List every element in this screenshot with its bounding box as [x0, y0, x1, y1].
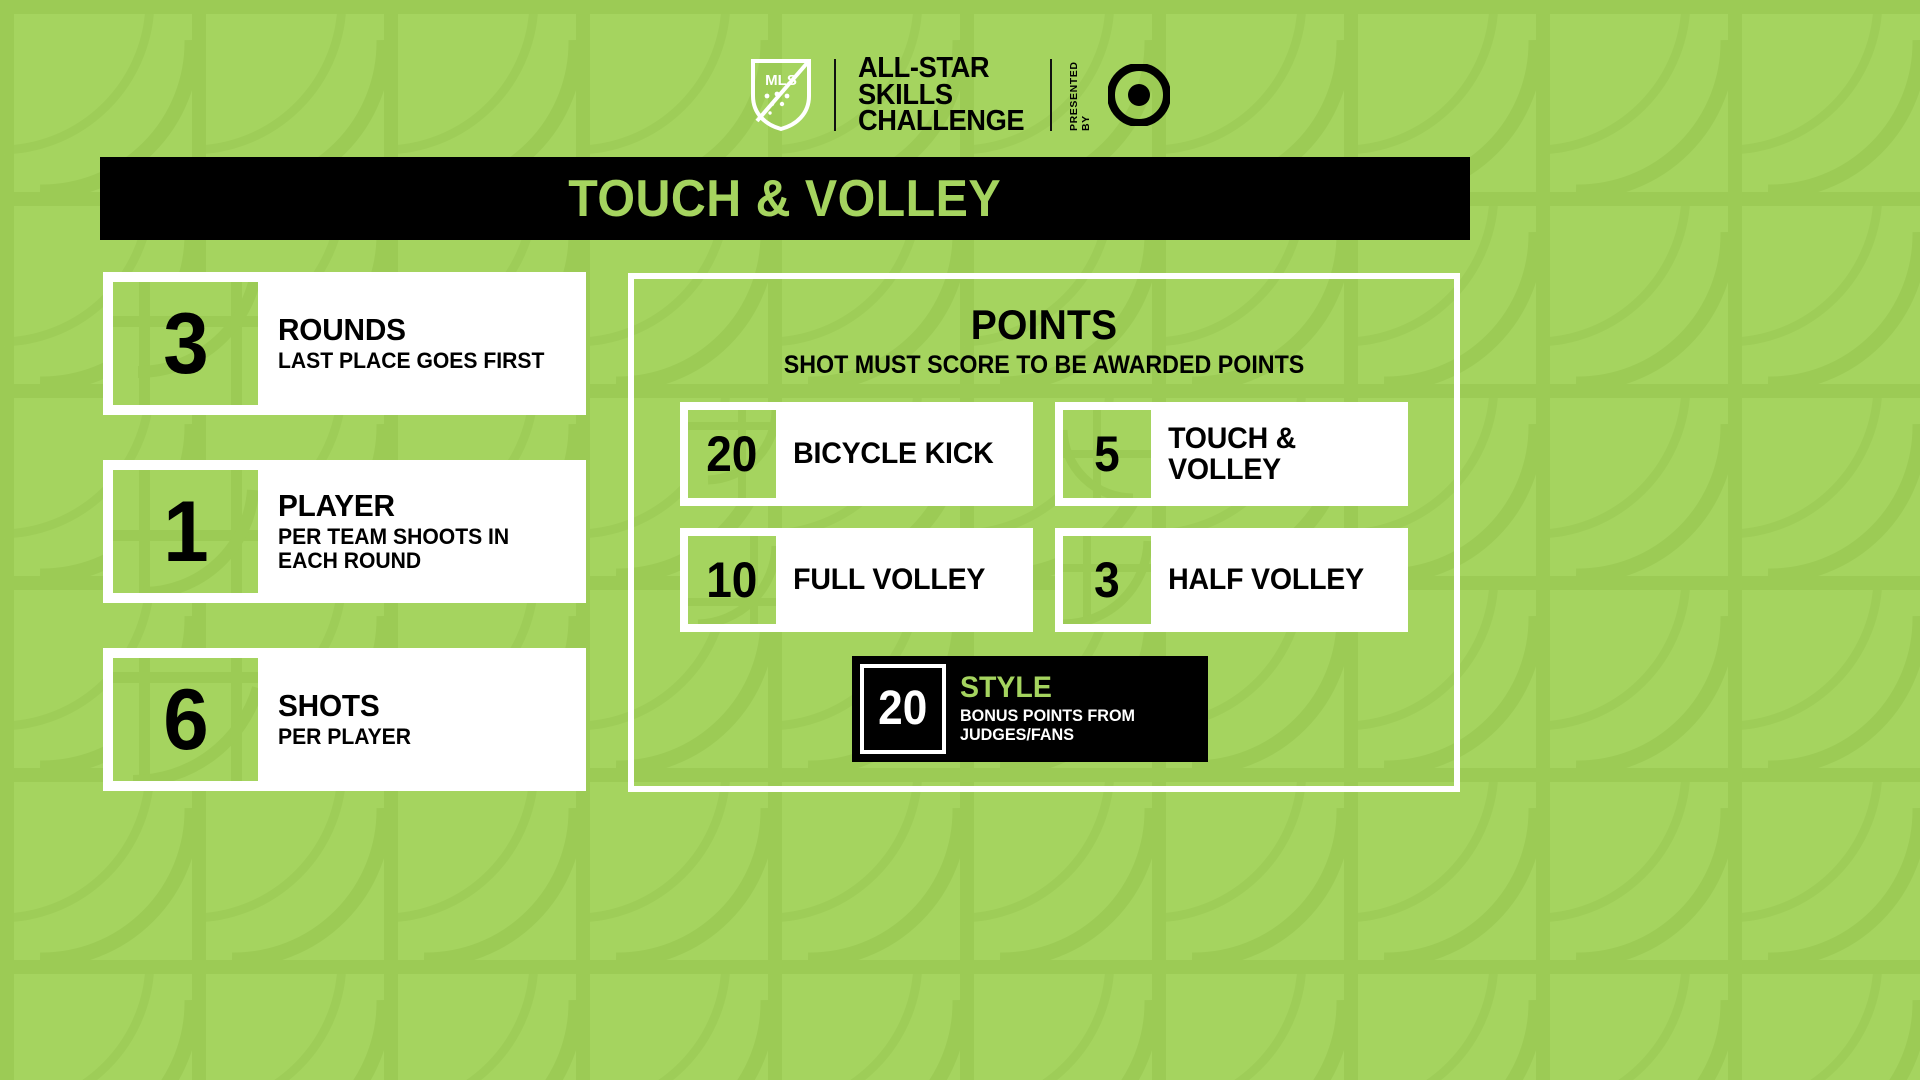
stat-card-player: 1 PLAYER PER TEAM SHOOTS IN EACH ROUND: [103, 460, 586, 603]
point-value: 10: [706, 555, 757, 605]
point-value: 3: [1094, 555, 1120, 605]
point-card-touch-and-volley: 5 TOUCH & VOLLEY: [1055, 402, 1408, 506]
points-grid: 20 BICYCLE KICK 5 TOUCH & VOLLEY: [680, 402, 1408, 632]
presented-by-label: PRESENTED BY: [1068, 59, 1092, 131]
point-label: BICYCLE KICK: [776, 410, 1013, 498]
point-value-box: 20: [688, 410, 776, 498]
style-text-block: STYLE BONUS POINTS FROM JUDGES/FANS: [946, 664, 1200, 754]
stat-text-block: SHOTS PER PLAYER: [258, 658, 576, 781]
mls-shield-icon: MLS: [750, 58, 812, 132]
points-subtitle: SHOT MUST SCORE TO BE AWARDED POINTS: [663, 351, 1426, 380]
points-title: POINTS: [663, 301, 1426, 349]
event-title-bar: TOUCH & VOLLEY: [100, 157, 1470, 240]
stat-title: SHOTS: [278, 690, 564, 723]
stat-number-box: 3: [113, 282, 258, 405]
stat-card-rounds: 3 ROUNDS LAST PLACE GOES FIRST: [103, 272, 586, 415]
stat-number: 1: [163, 489, 208, 575]
point-value: 20: [706, 429, 757, 479]
stat-number-box: 1: [113, 470, 258, 593]
stat-subtitle: PER TEAM SHOOTS IN EACH ROUND: [278, 525, 564, 573]
style-subtitle: BONUS POINTS FROM JUDGES/FANS: [960, 707, 1188, 744]
stat-text-block: PLAYER PER TEAM SHOOTS IN EACH ROUND: [258, 470, 576, 593]
stat-title: ROUNDS: [278, 314, 564, 347]
point-value-box: 3: [1063, 536, 1151, 624]
stat-text-block: ROUNDS LAST PLACE GOES FIRST: [258, 282, 576, 405]
point-card-full-volley: 10 FULL VOLLEY: [680, 528, 1033, 632]
style-title: STYLE: [960, 673, 1188, 703]
target-bullseye-icon: [1108, 64, 1170, 126]
style-bonus-card: 20 STYLE BONUS POINTS FROM JUDGES/FANS: [852, 656, 1208, 762]
style-value-box: 20: [860, 664, 946, 754]
lockup-divider: [834, 59, 836, 131]
stat-title: PLAYER: [278, 490, 564, 523]
wordmark-line-2: SKILLS: [858, 82, 1024, 109]
all-star-skills-challenge-wordmark: ALL-STAR SKILLS CHALLENGE: [858, 55, 1024, 136]
point-value-box: 10: [688, 536, 776, 624]
stat-subtitle: PER PLAYER: [278, 725, 564, 749]
header-logo-lockup: MLS ALL-STAR SKILLS CHALLENGE PRESENTED …: [0, 52, 1920, 138]
lockup-divider-2: [1050, 59, 1052, 131]
stat-card-shots: 6 SHOTS PER PLAYER: [103, 648, 586, 791]
wordmark-line-1: ALL-STAR: [858, 55, 1024, 82]
stat-subtitle: LAST PLACE GOES FIRST: [278, 349, 564, 373]
stat-number: 6: [163, 677, 208, 763]
style-value: 20: [878, 685, 927, 733]
page-title: TOUCH & VOLLEY: [569, 169, 1002, 229]
point-value: 5: [1094, 429, 1120, 479]
stat-number: 3: [163, 301, 208, 387]
point-card-half-volley: 3 HALF VOLLEY: [1055, 528, 1408, 632]
point-card-bicycle-kick: 20 BICYCLE KICK: [680, 402, 1033, 506]
point-value-box: 5: [1063, 410, 1151, 498]
point-label: HALF VOLLEY: [1151, 536, 1388, 624]
point-label: TOUCH & VOLLEY: [1151, 410, 1388, 498]
stat-number-box: 6: [113, 658, 258, 781]
wordmark-line-3: CHALLENGE: [858, 108, 1024, 135]
point-label: FULL VOLLEY: [776, 536, 1013, 624]
